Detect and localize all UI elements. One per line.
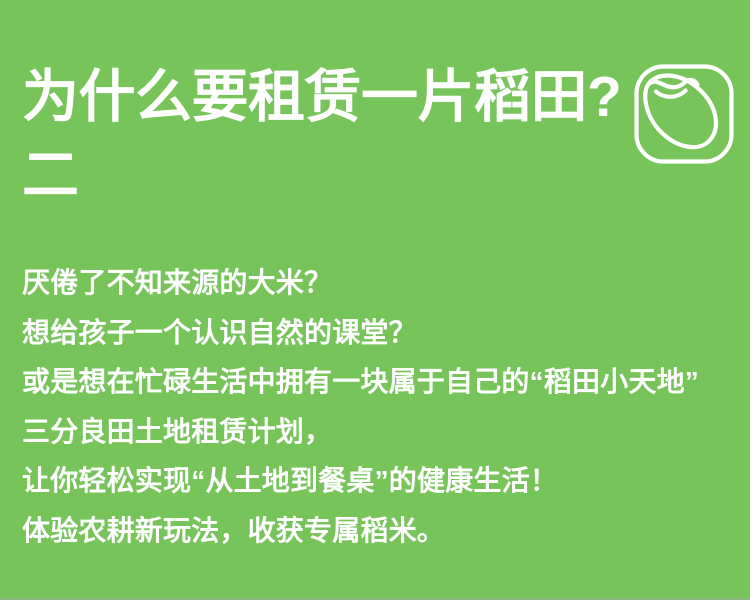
copy-line-6: 体验农耕新玩法，收获专属稻米。 bbox=[22, 506, 734, 556]
poster-header: 为什么要租赁一片稻田?二 bbox=[0, 0, 750, 230]
copy-line-2: 想给孩子一个认识自然的课堂？ bbox=[22, 308, 734, 358]
copy-line-4: 三分良田土地租赁计划， bbox=[22, 407, 734, 457]
copy-line-3: 或是想在忙碌生活中拥有一块属于自己的“稻田小天地” bbox=[22, 357, 734, 407]
copy-line-5: 让你轻松实现“从土地到餐桌”的健康生活！ bbox=[22, 456, 734, 506]
body-copy: 厌倦了不知来源的大米？ 想给孩子一个认识自然的课堂？ 或是想在忙碌生活中拥有一块… bbox=[22, 258, 734, 555]
promo-poster: 为什么要租赁一片稻田?二 厌倦了不知来源的大米？ 想给孩子一个认识自然的课堂？ … bbox=[0, 0, 750, 600]
copy-line-1: 厌倦了不知来源的大米？ bbox=[22, 258, 734, 308]
title-block: 为什么要租赁一片稻田?二 bbox=[22, 58, 728, 214]
page-title: 为什么要租赁一片稻田?二 bbox=[22, 58, 642, 214]
rice-grain-badge-icon bbox=[634, 64, 734, 164]
